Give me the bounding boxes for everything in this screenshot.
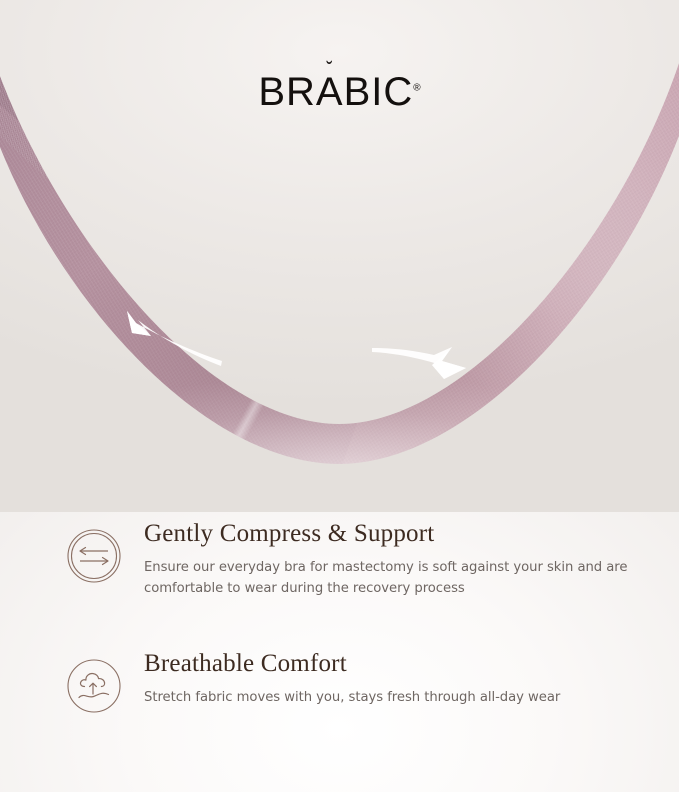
feature-description: Stretch fabric moves with you, stays fre…: [144, 687, 633, 708]
stretch-arrow-left: [118, 306, 222, 373]
feature-text-compress: Gently Compress & Support Ensure our eve…: [144, 520, 633, 600]
brand-logo: BRABIC®: [0, 72, 679, 112]
registered-trademark-icon: ®: [413, 83, 420, 94]
feature-list: Gently Compress & Support Ensure our eve…: [0, 520, 679, 714]
stretch-arrow-right: [372, 343, 468, 388]
compress-arrows-icon: [66, 528, 122, 584]
brand-logo-part1: BR: [258, 70, 316, 114]
feature-title: Gently Compress & Support: [144, 520, 633, 548]
feature-title: Breathable Comfort: [144, 650, 633, 678]
brand-logo-text: BRABIC®: [258, 72, 420, 112]
feature-text-breathable: Breathable Comfort Stretch fabric moves …: [144, 650, 633, 708]
feature-item-compress: Gently Compress & Support Ensure our eve…: [66, 520, 633, 600]
hero-fabric-image: BRABIC®: [0, 0, 679, 512]
brand-logo-part2: BIC: [344, 70, 414, 114]
product-feature-poster: BRABIC® Gently Compress & Support Ensure…: [0, 0, 679, 792]
brand-logo-accent-letter: A: [316, 72, 344, 112]
feature-item-breathable: Breathable Comfort Stretch fabric moves …: [66, 650, 633, 714]
feature-description: Ensure our everyday bra for mastectomy i…: [144, 557, 633, 600]
breathable-cloud-icon: [66, 658, 122, 714]
